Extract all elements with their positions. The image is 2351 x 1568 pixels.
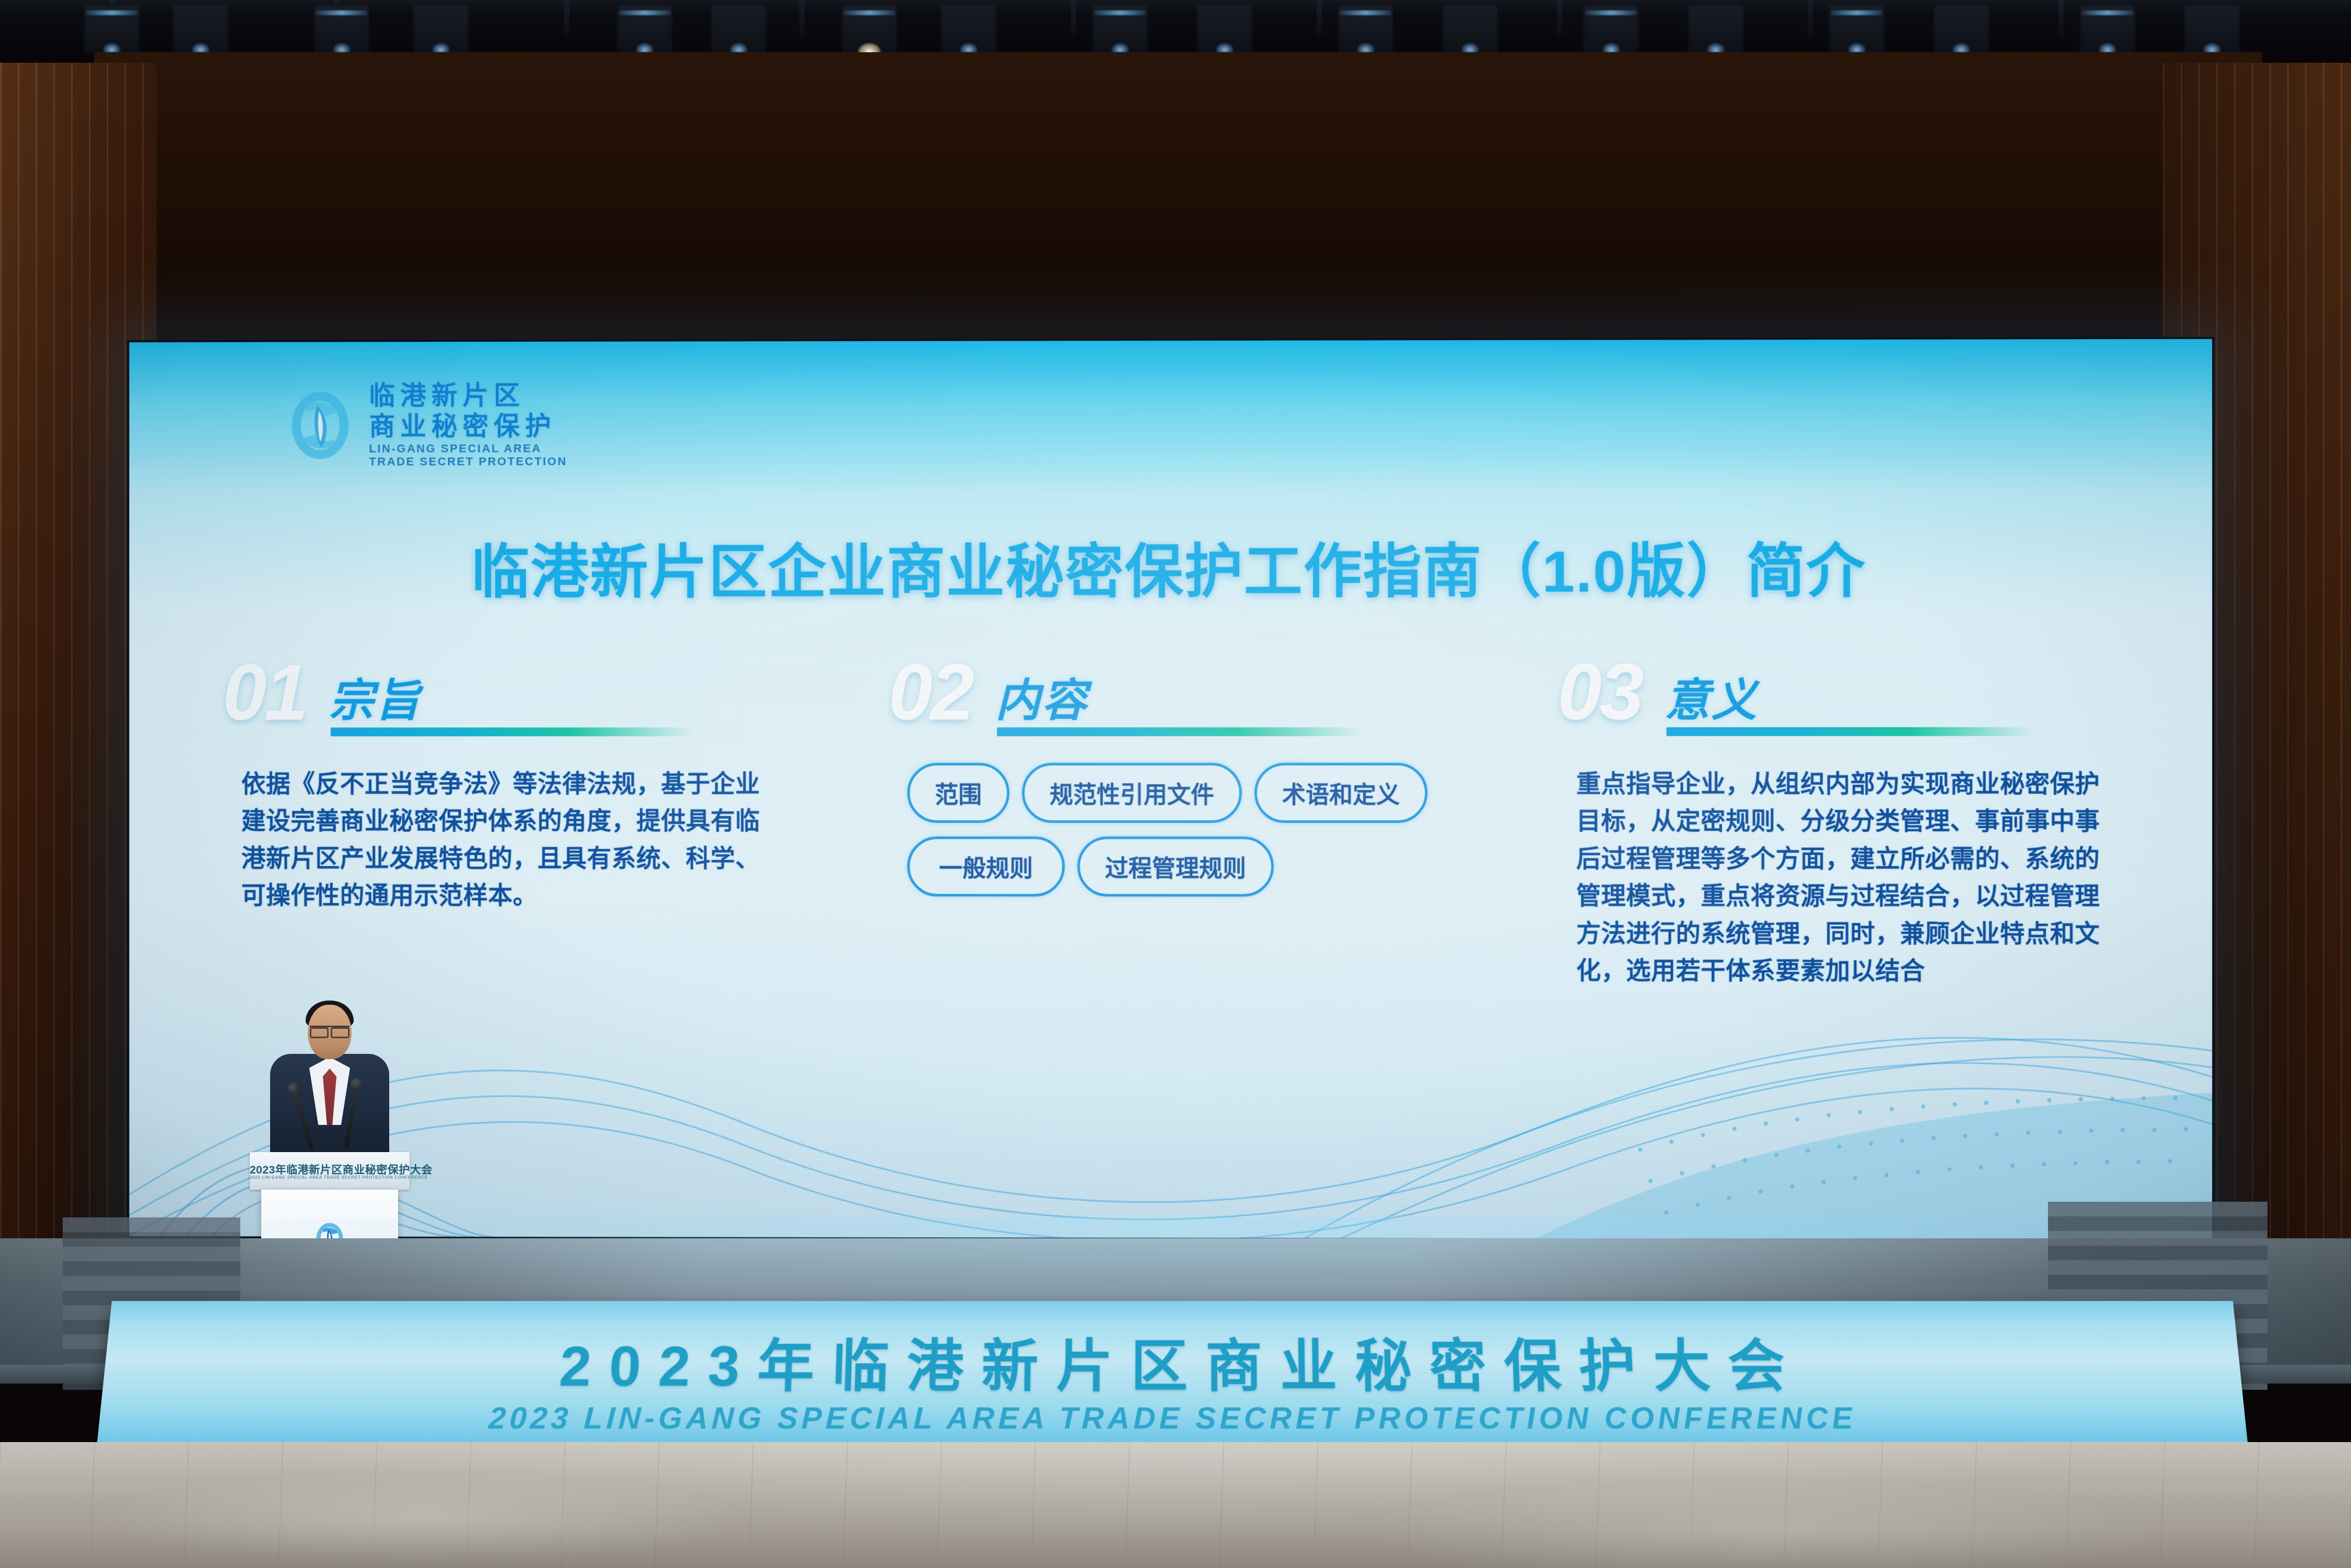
slide-section-03: 03 意义 重点指导企业，从组织内部为实现商业秘密保护目标，从定密规则、分级分类… <box>1557 654 2124 753</box>
section-number: 03 <box>1557 647 1642 738</box>
section-number: 01 <box>223 647 306 738</box>
fixture-hanger <box>1071 0 1076 37</box>
section-divider-rule <box>331 727 695 736</box>
stage-light-fixture <box>2079 4 2136 54</box>
stage-light-fixture <box>1092 4 1148 54</box>
section-label: 内容 <box>995 664 1088 729</box>
podium-title-en: 2023 LIN-GANG SPECIAL AREA TRADE SECRET … <box>250 1175 410 1180</box>
banner-title-en: 2023 LIN-GANG SPECIAL AREA TRADE SECRET … <box>98 1400 2247 1436</box>
slide-columns: 01 宗旨 依据《反不正当竞争法》等法律法规，基于企业建设完善商业秘密保护体系的… <box>223 654 2124 753</box>
fixture-hanger <box>564 0 569 37</box>
content-pill: 范围 <box>907 763 1009 823</box>
fixture-hanger <box>1557 0 1562 37</box>
fixture-hanger <box>1808 0 1813 37</box>
stage-light-fixture <box>313 4 370 54</box>
stage-light-fixture <box>1196 4 1253 54</box>
slide-logo: 临港新片区 商业秘密保护 LIN-GANG SPECIAL AREA TRADE… <box>285 382 567 468</box>
section-divider-rule <box>997 727 1363 736</box>
stage-light-fixture <box>1337 4 1394 54</box>
content-pill-list: 范围 规范性引用文件 术语和定义 一般规则 过程管理规则 <box>907 763 1453 897</box>
presentation-slide: 临港新片区 商业秘密保护 LIN-GANG SPECIAL AREA TRADE… <box>129 339 2212 1239</box>
section-divider-rule <box>1667 727 2034 736</box>
section-body-text: 重点指导企业，从组织内部为实现商业秘密保护目标，从定密规则、分级分类管理、事前事… <box>1576 765 2101 990</box>
auditorium-floor <box>0 1442 2351 1568</box>
section-body-text: 依据《反不正当竞争法》等法律法规，基于企业建设完善商业秘密保护体系的角度，提供具… <box>241 765 761 914</box>
speaker-glasses <box>310 1026 350 1036</box>
conference-stage-photo: 临港新片区 商业秘密保护 LIN-GANG SPECIAL AREA TRADE… <box>0 0 2351 1568</box>
fixture-hanger <box>2058 0 2064 37</box>
content-pill: 规范性引用文件 <box>1022 763 1242 823</box>
content-pill: 过程管理规则 <box>1077 837 1274 897</box>
stage-light-fixture <box>1687 4 1744 54</box>
stage-light-fixture <box>413 4 469 54</box>
section-label: 意义 <box>1665 663 1759 728</box>
stage-light-fixture <box>616 4 673 54</box>
led-screen: 临港新片区 商业秘密保护 LIN-GANG SPECIAL AREA TRADE… <box>127 337 2214 1241</box>
slide-section-02: 02 内容 范围 规范性引用文件 术语和定义 一般规则 过程管理规则 <box>889 654 1453 753</box>
lingang-emblem-icon <box>285 390 355 461</box>
stage-light-fixture <box>841 4 898 54</box>
speaker-figure <box>270 995 390 1152</box>
section-header: 01 宗旨 <box>223 654 784 753</box>
section-number: 02 <box>889 647 973 738</box>
section-header: 03 意义 <box>1557 654 2124 753</box>
stage-light-fixture <box>1933 4 1989 54</box>
stage-light-fixture <box>2184 4 2240 54</box>
slide-title: 临港新片区企业商业秘密保护工作指南（1.0版）简介 <box>129 524 2212 610</box>
stage-light-fixture <box>940 4 997 54</box>
banner-title-cn: 2023年临港新片区商业秘密保护大会 <box>101 1321 2243 1403</box>
slide-logo-en-line1: LIN-GANG SPECIAL AREA <box>369 443 567 454</box>
fixture-hanger <box>1317 0 1322 37</box>
stage-light-fixture <box>84 4 140 54</box>
stage-light-fixture <box>1583 4 1639 54</box>
slide-section-01: 01 宗旨 依据《反不正当竞争法》等法律法规，基于企业建设完善商业秘密保护体系的… <box>223 654 784 753</box>
slide-logo-en-line2: TRADE SECRET PROTECTION <box>369 456 567 467</box>
stage-light-fixture <box>711 4 767 54</box>
slide-logo-cn-line1: 临港新片区 <box>369 382 567 409</box>
content-pill: 术语和定义 <box>1254 763 1427 823</box>
fixture-hanger <box>799 0 805 37</box>
content-pill: 一般规则 <box>907 837 1065 897</box>
slide-logo-cn-line2: 商业秘密保护 <box>369 413 567 439</box>
section-header: 02 内容 <box>889 654 1453 753</box>
stage-light-fixture <box>172 4 229 54</box>
podium-top-panel: 2023年临港新片区商业秘密保护大会 2023 LIN-GANG SPECIAL… <box>250 1152 410 1190</box>
stage-light-fixture <box>1829 4 1885 54</box>
stage-light-fixture <box>1442 4 1498 54</box>
section-label: 宗旨 <box>329 664 422 729</box>
